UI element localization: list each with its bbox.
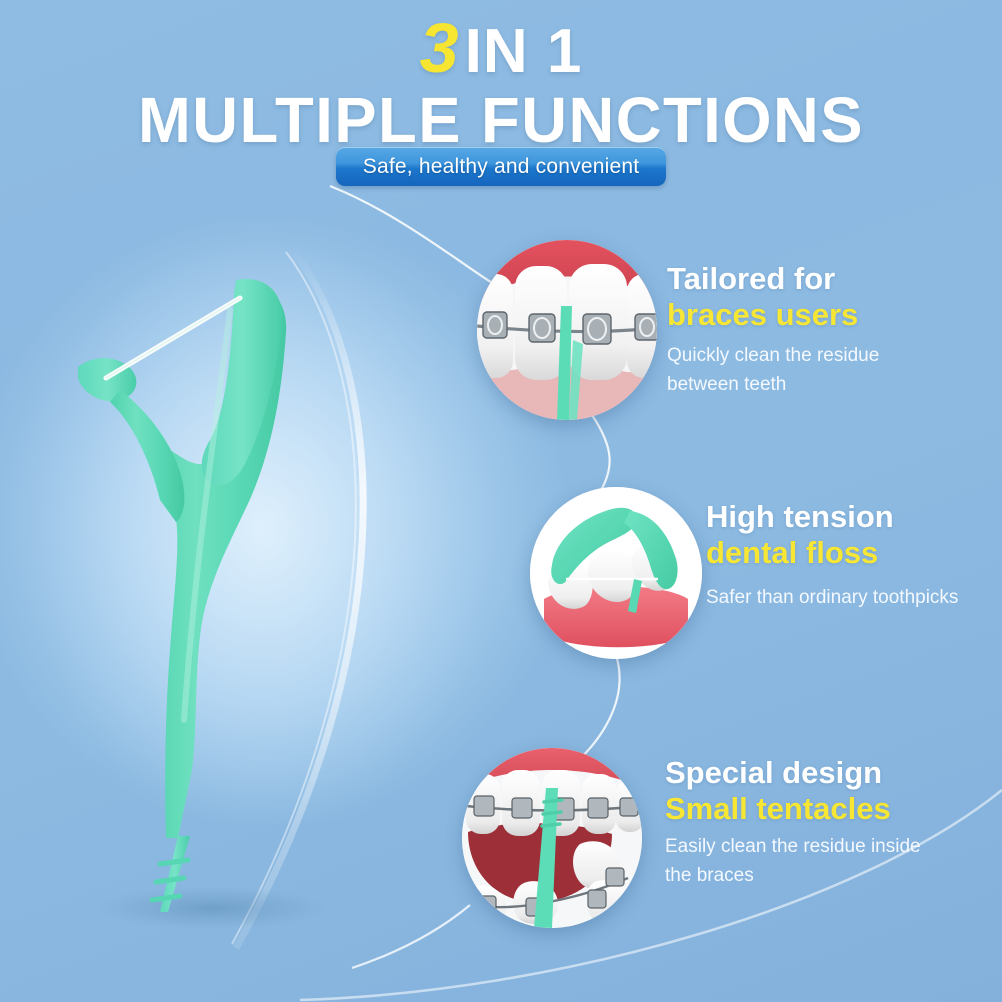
title-line-1-rest: IN 1	[465, 17, 583, 86]
feature-image-mouth-braces	[462, 748, 642, 928]
feature-headline-white: Tailored for	[667, 261, 987, 297]
feature-description: Safer than ordinary toothpicks	[706, 583, 996, 612]
feature-image-floss-on-molars	[530, 487, 702, 659]
feature-text-braces: Tailored for braces users Quickly clean …	[667, 261, 987, 400]
product-infographic: 3IN 1 MULTIPLE FUNCTIONS Safe, healthy a…	[0, 0, 1002, 1002]
subtitle-banner-label: Safe, healthy and convenient	[363, 155, 639, 179]
feature-text-tentacles: Special design Small tentacles Easily cl…	[665, 755, 995, 891]
feature-headline-yellow: Small tentacles	[665, 791, 995, 827]
feature-headline-yellow: dental floss	[706, 535, 996, 571]
feature-description: Easily clean the residue inside the brac…	[665, 832, 995, 891]
product-image-floss-pick	[60, 250, 440, 950]
title-line-1: 3IN 1	[0, 14, 1002, 83]
feature-headline-white: Special design	[665, 755, 995, 791]
feature-headline-yellow: braces users	[667, 297, 987, 333]
feature-image-braces-closeup	[477, 240, 657, 420]
title-number: 3	[420, 9, 459, 87]
subtitle-banner: Safe, healthy and convenient	[336, 147, 666, 186]
feature-description: Quickly clean the residue between teeth	[667, 341, 987, 400]
title-line-2: MULTIPLE FUNCTIONS	[5, 89, 997, 152]
page-title: 3IN 1 MULTIPLE FUNCTIONS	[0, 14, 1002, 151]
feature-text-floss: High tension dental floss Safer than ord…	[706, 499, 996, 612]
feature-headline-white: High tension	[706, 499, 996, 535]
